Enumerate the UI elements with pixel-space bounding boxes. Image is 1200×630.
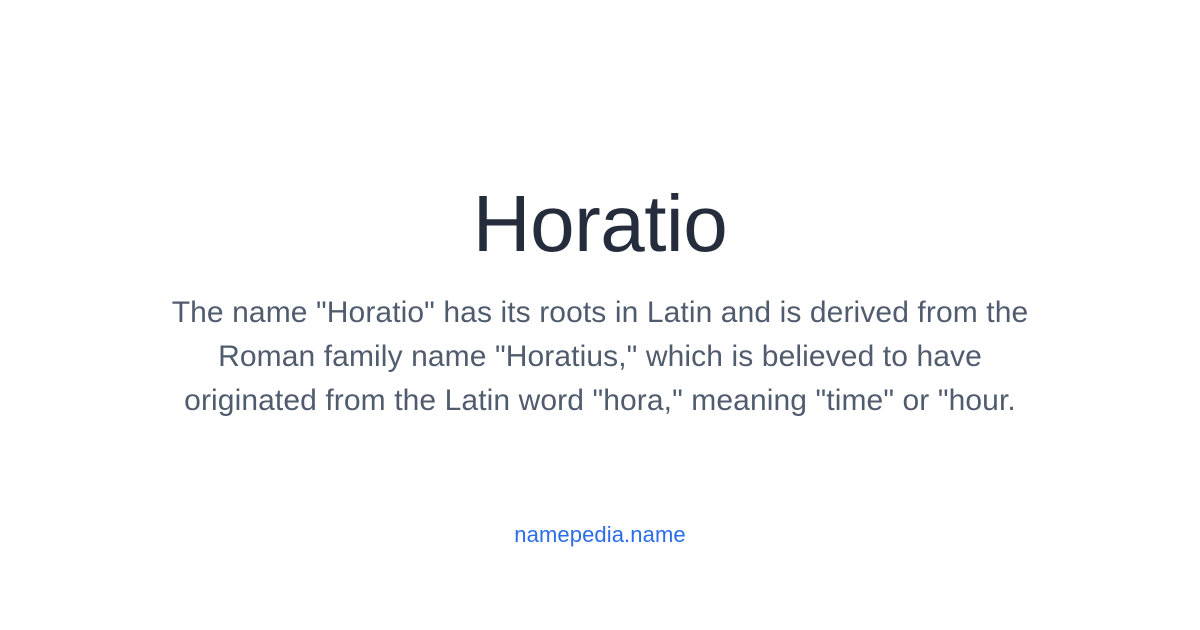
site-link[interactable]: namepedia.name <box>0 521 1200 549</box>
name-description-text: The name "Horatio" has its roots in Lati… <box>160 291 1040 423</box>
name-meaning-share-card: Horatio The name "Horatio" has its roots… <box>0 0 1200 630</box>
page-title: Horatio <box>0 178 1200 270</box>
